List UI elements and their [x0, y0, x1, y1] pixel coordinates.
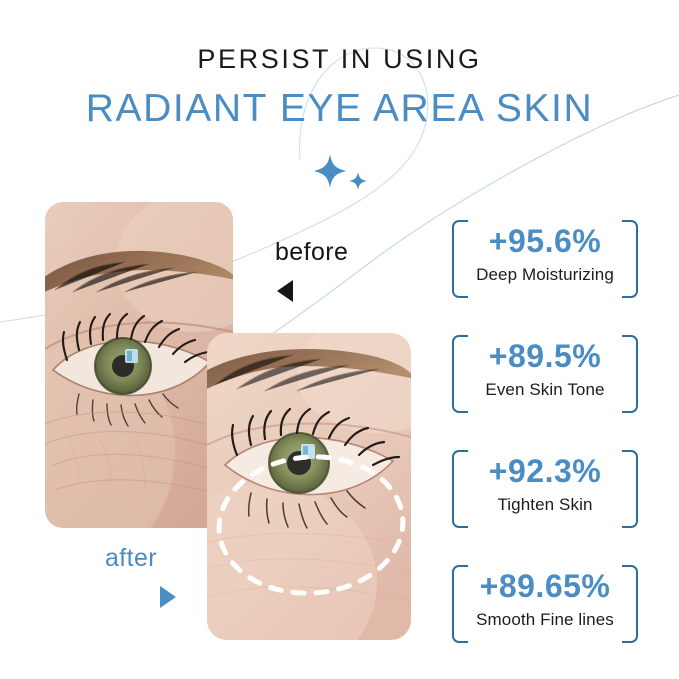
before-label: before [275, 238, 348, 267]
after-photo [207, 333, 411, 640]
stat-label: Deep Moisturizing [452, 265, 638, 285]
stat-value: +89.5% [452, 338, 638, 375]
stat-label: Smooth Fine lines [452, 610, 638, 630]
stat-card-tighten-skin: +92.3% Tighten Skin [452, 450, 638, 528]
triangle-left-icon [277, 280, 293, 302]
kicker-text: PERSIST IN USING [0, 44, 679, 75]
stat-value: +95.6% [452, 223, 638, 260]
page-title: RADIANT EYE AREA SKIN [0, 87, 679, 131]
stat-card-even-skin-tone: +89.5% Even Skin Tone [452, 335, 638, 413]
stat-card-smooth-fine-lines: +89.65% Smooth Fine lines [452, 565, 638, 643]
after-label: after [105, 544, 157, 573]
stat-label: Tighten Skin [452, 495, 638, 515]
triangle-right-icon [160, 586, 176, 608]
stat-value: +89.65% [452, 568, 638, 605]
stat-card-deep-moisturizing: +95.6% Deep Moisturizing [452, 220, 638, 298]
after-photo-image [207, 333, 411, 640]
stat-label: Even Skin Tone [452, 380, 638, 400]
promo-poster: PERSIST IN USING RADIANT EYE AREA SKIN [0, 0, 679, 679]
stat-value: +92.3% [452, 453, 638, 490]
before-photo-image [45, 202, 233, 528]
sparkle-icon [310, 152, 380, 197]
before-photo [45, 202, 233, 528]
